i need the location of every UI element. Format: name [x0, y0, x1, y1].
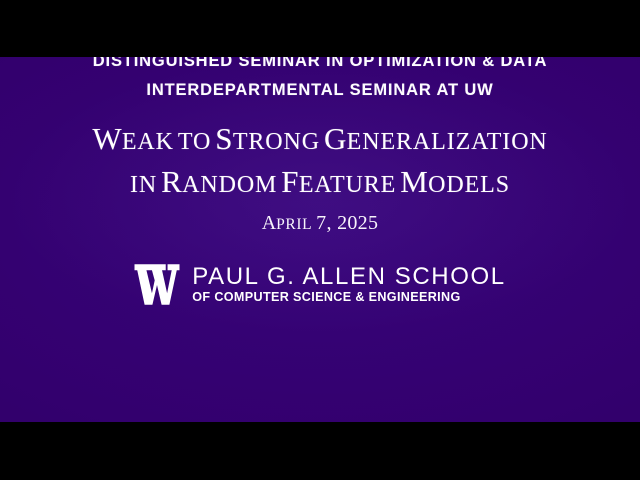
letterbox-bar-top [0, 0, 640, 57]
allen-school-logo: PAUL G. ALLEN SCHOOL OF COMPUTER SCIENCE… [0, 262, 640, 307]
title-l1-w3-sc: TRONG [233, 129, 320, 155]
talk-title-line-2: IN RANDOM FEATURE MODELS [0, 163, 640, 206]
talk-date: APRIL 7, 2025 [0, 212, 640, 236]
title-l2-w3-sc: EATURE [299, 172, 396, 198]
title-l1-w2-sc: TO [178, 129, 211, 155]
title-l1-w4-sc: ENERALIZATION [347, 129, 548, 155]
title-l1-w1-cap: W [92, 121, 122, 156]
video-frame: DISTINGUISHED SEMINAR IN OPTIMIZATION & … [0, 0, 640, 480]
talk-title-line-1: WEAK TO STRONG GENERALIZATION [0, 120, 640, 163]
title-l2-w1-sc: IN [130, 172, 157, 198]
title-l1-w4-cap: G [324, 121, 347, 156]
title-l2-w4-cap: M [400, 164, 428, 199]
series-line-2: INTERDEPARTMENTAL SEMINAR AT UW [0, 76, 640, 105]
logo-school-name: PAUL G. ALLEN SCHOOL [192, 264, 505, 289]
logo-lockup: PAUL G. ALLEN SCHOOL OF COMPUTER SCIENCE… [134, 262, 505, 307]
uw-w-mark-icon [134, 262, 180, 307]
date-day-year: 7, 2025 [316, 212, 378, 234]
title-l2-w3-cap: F [281, 164, 299, 199]
date-month-rest: PRIL [276, 216, 312, 233]
title-l1-w3-cap: S [215, 121, 233, 156]
title-l2-w2-sc: ANDOM [182, 172, 277, 198]
title-l2-w4-sc: ODELS [428, 172, 510, 198]
slide-background [0, 57, 640, 422]
title-l1-w1-sc: EAK [122, 129, 174, 155]
title-l2-w2-cap: R [161, 164, 182, 199]
date-month-cap: A [262, 212, 276, 234]
logo-department-name: OF COMPUTER SCIENCE & ENGINEERING [192, 289, 460, 305]
logo-wordmark: PAUL G. ALLEN SCHOOL OF COMPUTER SCIENCE… [192, 264, 505, 305]
talk-title: WEAK TO STRONG GENERALIZATION IN RANDOM … [0, 120, 640, 206]
talk-date-line: APRIL 7, 2025 [0, 212, 640, 236]
letterbox-bar-bottom [0, 422, 640, 480]
